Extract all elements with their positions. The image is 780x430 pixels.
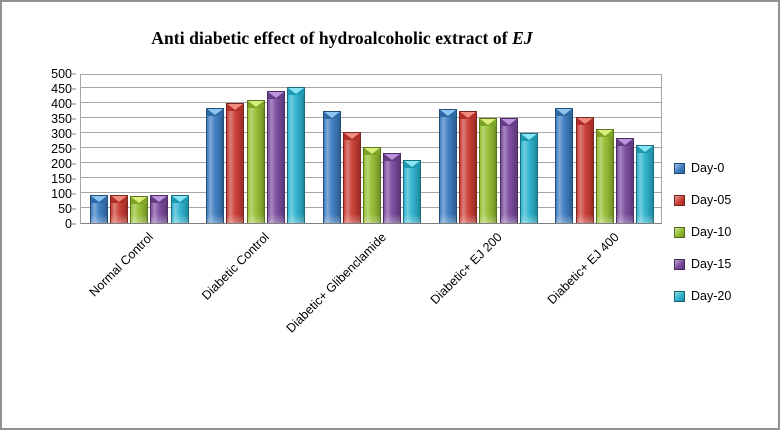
bar-gloss — [597, 130, 613, 224]
legend-item-day-20[interactable]: Day-20 — [674, 280, 774, 312]
bar[interactable] — [363, 147, 381, 224]
y-axis-tick-mark — [72, 89, 76, 90]
bar-foot-highlight — [111, 214, 127, 223]
y-axis-tick-label: 500 — [51, 67, 72, 81]
bar-cap — [480, 119, 496, 126]
bar-gloss — [521, 134, 537, 223]
bar[interactable] — [500, 118, 518, 223]
bar-cap — [268, 92, 284, 99]
bar-cap — [288, 88, 304, 95]
bar-foot-highlight — [344, 214, 360, 223]
y-axis-tick-mark — [72, 149, 76, 150]
bar-cap — [440, 110, 456, 117]
bar-cap — [556, 109, 572, 116]
bar-cap — [227, 104, 243, 111]
bar[interactable] — [287, 87, 305, 224]
bar-foot-highlight — [556, 214, 572, 223]
bar-gloss — [248, 101, 264, 223]
bar-gloss — [364, 148, 380, 224]
bar-cap — [172, 196, 188, 203]
bar[interactable] — [267, 91, 285, 223]
bar-foot-highlight — [172, 214, 188, 223]
bar[interactable] — [636, 145, 654, 223]
y-axis-tick-label: 50 — [58, 202, 72, 216]
bar-gloss — [501, 119, 517, 223]
bar-gloss — [344, 133, 360, 224]
y-axis-tick-mark — [72, 164, 76, 165]
chart-title: Anti diabetic effect of hydroalcoholic e… — [2, 28, 682, 49]
bar-foot-highlight — [404, 214, 420, 223]
bar-foot-highlight — [597, 214, 613, 223]
legend-item-day-05[interactable]: Day-05 — [674, 184, 774, 216]
bar-cap — [131, 197, 147, 204]
y-axis-tick-mark — [72, 74, 76, 75]
bar-cap — [597, 130, 613, 137]
y-axis-tick-label: 0 — [65, 217, 72, 231]
bar-cap — [364, 148, 380, 155]
legend-swatch-gloss — [675, 292, 684, 301]
bar-cap — [501, 119, 517, 126]
chart-figure: Anti diabetic effect of hydroalcoholic e… — [0, 0, 780, 430]
y-axis-tick-mark — [72, 209, 76, 210]
bar-foot-highlight — [364, 214, 380, 223]
bar-foot-highlight — [480, 214, 496, 223]
legend-swatch-gloss — [675, 164, 684, 173]
x-axis-tick-label: Normal Control — [86, 230, 155, 299]
bar[interactable] — [110, 195, 128, 224]
bar[interactable] — [323, 111, 341, 224]
legend-swatch-icon — [674, 195, 685, 206]
y-axis-tick-label: 250 — [51, 142, 72, 156]
legend-label: Day-10 — [691, 225, 731, 239]
bar-foot-highlight — [637, 214, 653, 223]
chart-title-italic: EJ — [512, 28, 533, 48]
bar-cap — [384, 154, 400, 161]
bar-gloss — [384, 154, 400, 224]
bar-foot-highlight — [288, 214, 304, 223]
chart-legend: Day-0Day-05Day-10Day-15Day-20 — [674, 152, 774, 312]
bar[interactable] — [226, 103, 244, 223]
bar-gloss — [637, 146, 653, 223]
bar-foot-highlight — [501, 214, 517, 223]
y-axis-tick-label: 400 — [51, 97, 72, 111]
bar-gloss — [440, 110, 456, 223]
bar-foot-highlight — [227, 214, 243, 223]
legend-label: Day-20 — [691, 289, 731, 303]
bar[interactable] — [403, 160, 421, 223]
legend-item-day-15[interactable]: Day-15 — [674, 248, 774, 280]
x-axis-tick-label: Diabetic+ EJ 400 — [544, 230, 621, 307]
bar[interactable] — [247, 100, 265, 223]
bar-gloss — [480, 119, 496, 223]
bar[interactable] — [439, 109, 457, 223]
bar-group — [547, 75, 663, 223]
y-axis-tick-mark — [72, 194, 76, 195]
bar-gloss — [227, 104, 243, 223]
y-axis-tick-label: 100 — [51, 187, 72, 201]
bar-cap — [617, 139, 633, 146]
y-axis-tick-mark — [72, 119, 76, 120]
y-axis-tick-mark — [72, 224, 76, 225]
bar-foot-highlight — [248, 214, 264, 223]
bar-cap — [577, 118, 593, 125]
bar[interactable] — [130, 196, 148, 223]
bar-cap — [637, 146, 653, 153]
legend-item-day-0[interactable]: Day-0 — [674, 152, 774, 184]
bar-foot-highlight — [268, 214, 284, 223]
y-axis: 050100150200250300350400450500 — [20, 74, 76, 224]
bar-foot-highlight — [460, 214, 476, 223]
bar-cap — [344, 133, 360, 140]
bar[interactable] — [596, 129, 614, 224]
bar-cap — [91, 196, 107, 203]
y-axis-tick-label: 300 — [51, 127, 72, 141]
chart-title-plain: Anti diabetic effect of hydroalcoholic e… — [151, 28, 512, 48]
y-axis-tick-mark — [72, 104, 76, 105]
bar-gloss — [324, 112, 340, 224]
x-axis-tick-label: Diabetic Control — [199, 230, 272, 303]
x-axis-tick-label: Diabetic+ Glibenclamide — [283, 230, 388, 335]
bar[interactable] — [150, 195, 168, 223]
bar-gloss — [556, 109, 572, 224]
y-axis-tick-mark — [72, 134, 76, 135]
legend-swatch-icon — [674, 259, 685, 270]
bar-foot-highlight — [91, 214, 107, 223]
plot-area — [80, 74, 662, 224]
bar-cap — [460, 112, 476, 119]
legend-swatch-icon — [674, 163, 685, 174]
bar[interactable] — [459, 111, 477, 224]
bar-group — [314, 75, 430, 223]
y-axis-tick-label: 350 — [51, 112, 72, 126]
bar-cap — [151, 196, 167, 203]
bar-gloss — [617, 139, 633, 224]
bar-gloss — [207, 109, 223, 224]
bar[interactable] — [206, 108, 224, 224]
bar[interactable] — [616, 138, 634, 224]
bar-foot-highlight — [131, 214, 147, 223]
legend-label: Day-05 — [691, 193, 731, 207]
legend-swatch-icon — [674, 291, 685, 302]
y-axis-tick-label: 450 — [51, 82, 72, 96]
bar-foot-highlight — [324, 214, 340, 223]
bar-group — [197, 75, 313, 223]
legend-label: Day-15 — [691, 257, 731, 271]
bar-foot-highlight — [440, 214, 456, 223]
bar-gloss — [268, 92, 284, 223]
bar-gloss — [460, 112, 476, 224]
bar[interactable] — [171, 195, 189, 223]
bar-cap — [324, 112, 340, 119]
bar[interactable] — [90, 195, 108, 224]
bar-cap — [521, 134, 537, 141]
bar-cap — [248, 101, 264, 108]
bar-group — [430, 75, 546, 223]
bar-foot-highlight — [151, 214, 167, 223]
legend-swatch-gloss — [675, 228, 684, 237]
bar-cap — [111, 196, 127, 203]
bar-foot-highlight — [577, 214, 593, 223]
bar-foot-highlight — [521, 214, 537, 223]
x-axis-tick-label: Diabetic+ EJ 200 — [428, 230, 505, 307]
y-axis-tick-mark — [72, 179, 76, 180]
bar-foot-highlight — [207, 214, 223, 223]
legend-swatch-icon — [674, 227, 685, 238]
bar-group — [81, 75, 197, 223]
bar[interactable] — [383, 153, 401, 224]
legend-item-day-10[interactable]: Day-10 — [674, 216, 774, 248]
legend-swatch-gloss — [675, 196, 684, 205]
legend-label: Day-0 — [691, 161, 724, 175]
bar[interactable] — [479, 118, 497, 223]
bar[interactable] — [555, 108, 573, 224]
bar-cap — [404, 161, 420, 168]
bar[interactable] — [520, 133, 538, 223]
bar-gloss — [288, 88, 304, 224]
y-axis-tick-label: 200 — [51, 157, 72, 171]
bar-cap — [207, 109, 223, 116]
bar-gloss — [577, 118, 593, 224]
bar-foot-highlight — [617, 214, 633, 223]
y-axis-tick-label: 150 — [51, 172, 72, 186]
bar[interactable] — [343, 132, 361, 224]
bar[interactable] — [576, 117, 594, 224]
bar-foot-highlight — [384, 214, 400, 223]
legend-swatch-gloss — [675, 260, 684, 269]
